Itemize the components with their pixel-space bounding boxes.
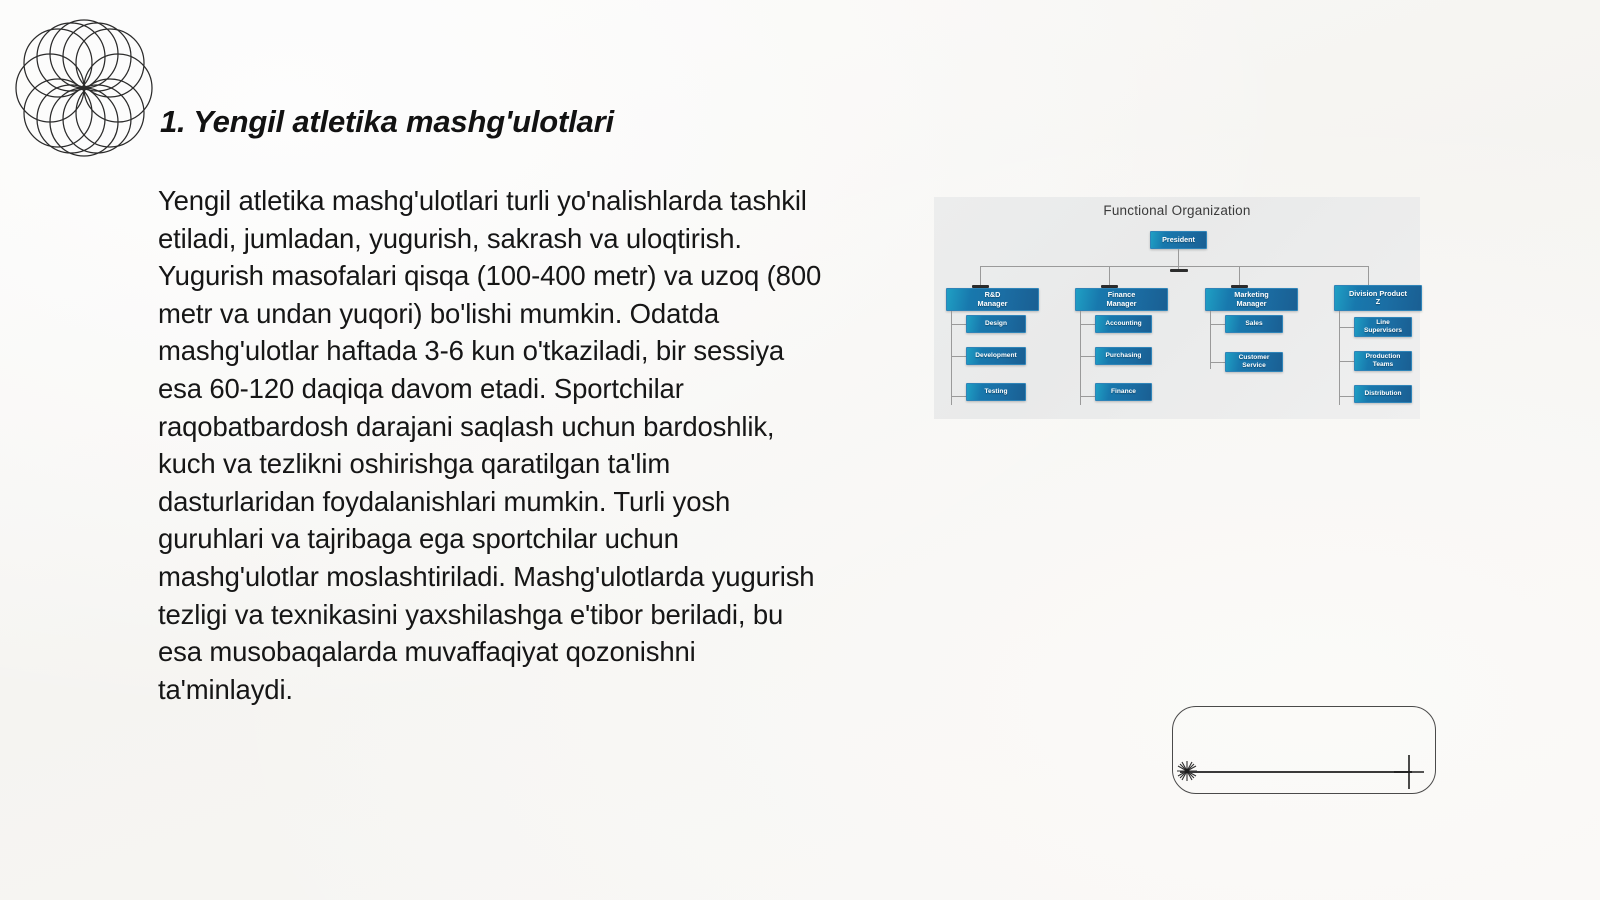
connector-drop-1 bbox=[980, 266, 981, 287]
connector-finance-child-2 bbox=[1080, 356, 1096, 357]
org-node-marketing-manager: Marketing Manager bbox=[1205, 288, 1298, 311]
starburst-icon bbox=[1176, 760, 1198, 782]
connector-rd-child-3 bbox=[951, 396, 967, 397]
org-node-design: Design bbox=[966, 315, 1026, 333]
org-node-sales: Sales bbox=[1225, 315, 1283, 333]
org-node-marketing-manager-line2: Manager bbox=[1236, 300, 1266, 308]
connector-drop-3 bbox=[1239, 266, 1240, 287]
connector-rd-child-2 bbox=[951, 356, 967, 357]
org-node-rd-manager-line2: Manager bbox=[977, 300, 1007, 308]
org-node-line-supervisors: Line Supervisors bbox=[1354, 317, 1412, 337]
decorative-horizontal-line bbox=[1180, 771, 1412, 773]
connector-finance-child-1 bbox=[1080, 324, 1096, 325]
org-node-finance-manager: Finance Manager bbox=[1075, 288, 1168, 311]
org-node-distribution: Distribution bbox=[1354, 385, 1412, 403]
connector-finance-child-3 bbox=[1080, 396, 1096, 397]
connector-bus bbox=[980, 266, 1368, 267]
connector-root-vertical bbox=[1178, 249, 1179, 271]
connector-division-child-1 bbox=[1339, 327, 1355, 328]
org-node-accounting: Accounting bbox=[1095, 315, 1152, 333]
org-node-president: President bbox=[1150, 231, 1207, 249]
org-chart-title: Functional Organization bbox=[934, 203, 1420, 218]
connector-marketing-child-2 bbox=[1210, 362, 1226, 363]
org-chart-panel: Functional Organization President R&D Ma… bbox=[934, 197, 1420, 419]
org-node-production-teams: Production Teams bbox=[1354, 351, 1412, 371]
plus-icon bbox=[1392, 753, 1426, 791]
connector-rd-spine bbox=[951, 311, 952, 405]
org-node-rd-manager: R&D Manager bbox=[946, 288, 1039, 311]
spirograph-icon bbox=[4, 8, 164, 168]
page-title: 1. Yengil atletika mashg'ulotlari bbox=[160, 104, 614, 140]
org-node-division-product-z-line2: Z bbox=[1376, 298, 1380, 306]
org-node-development: Development bbox=[966, 347, 1026, 365]
connector-rd-child-1 bbox=[951, 324, 967, 325]
connector-drop-2 bbox=[1109, 266, 1110, 287]
org-node-division-product-z: Division Product Z bbox=[1334, 285, 1422, 311]
connector-division-child-3 bbox=[1339, 396, 1355, 397]
org-node-testing: Testing bbox=[966, 383, 1026, 401]
connector-root-stub bbox=[1170, 269, 1188, 272]
org-node-finance-manager-line2: Manager bbox=[1106, 300, 1136, 308]
connector-marketing-spine bbox=[1210, 311, 1211, 369]
org-node-purchasing: Purchasing bbox=[1095, 347, 1152, 365]
connector-division-spine bbox=[1339, 311, 1340, 405]
connector-marketing-child-1 bbox=[1210, 324, 1226, 325]
connector-division-child-2 bbox=[1339, 361, 1355, 362]
connector-finance-spine bbox=[1080, 311, 1081, 405]
org-node-customer-service: Customer Service bbox=[1225, 352, 1283, 372]
connector-drop-4 bbox=[1368, 266, 1369, 287]
org-node-finance: Finance bbox=[1095, 383, 1152, 401]
body-paragraph: Yengil atletika mashg'ulotlari turli yo'… bbox=[158, 182, 830, 708]
